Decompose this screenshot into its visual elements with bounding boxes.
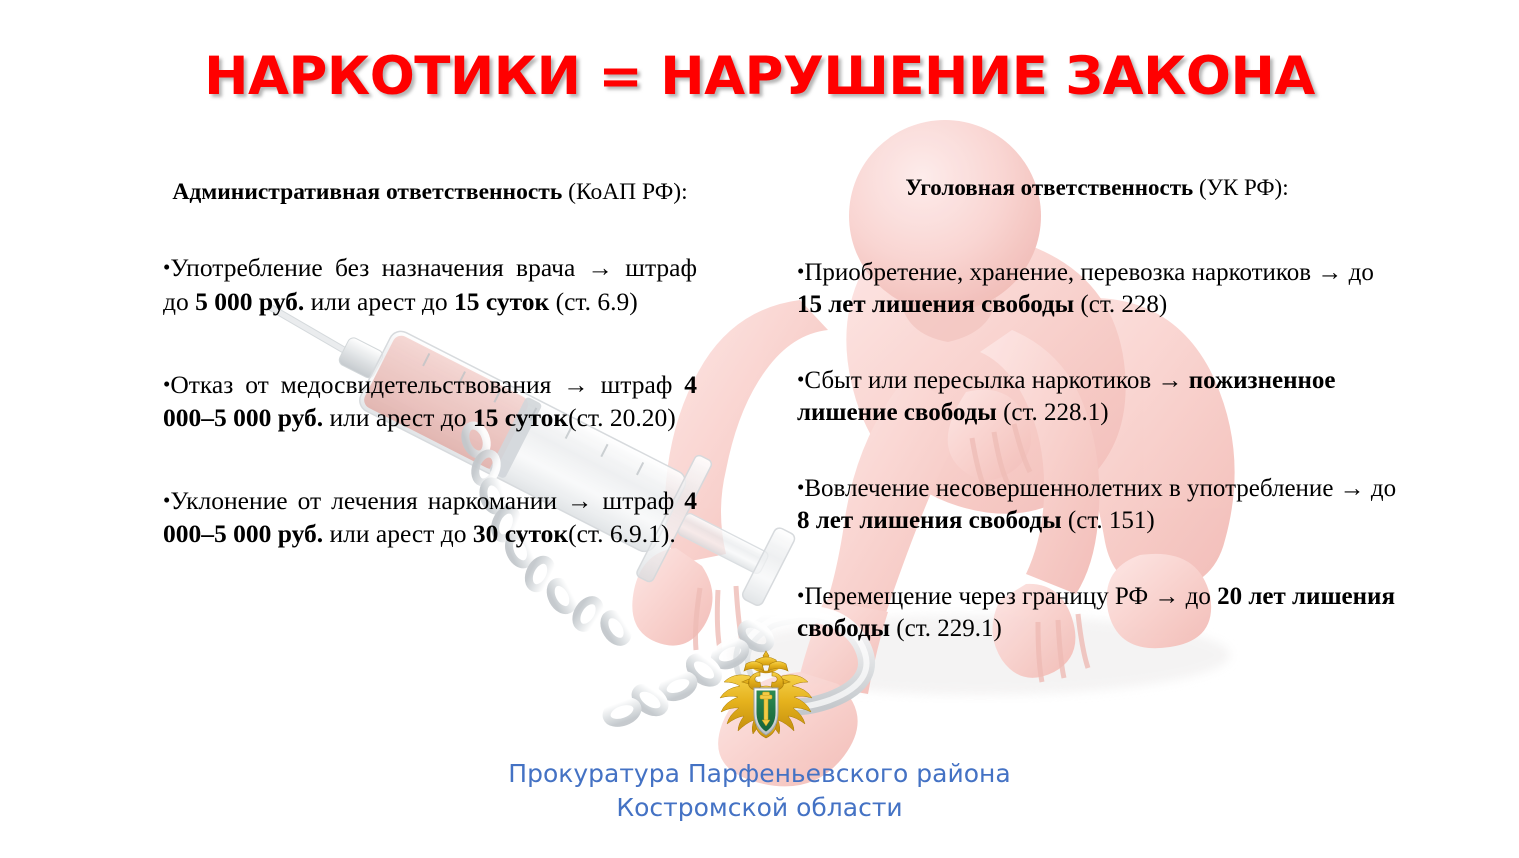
list-item: Сбыт или пересылка наркотиков → пожизнен… xyxy=(797,365,1397,430)
bullet-text-part: (ст. 228) xyxy=(1074,291,1167,318)
administrative-heading-strong: Административная ответственность xyxy=(172,179,562,205)
bullet-text-part: (ст. 20.20) xyxy=(568,403,676,432)
bullet-text-part: (ст. 6.9) xyxy=(549,287,638,316)
administrative-bullet-list: Употребление без назначения врача → штра… xyxy=(163,251,697,550)
administrative-heading: Административная ответственность (КоАП Р… xyxy=(163,176,697,209)
bullet-text-part: Сбыт или пересылка наркотиков → xyxy=(804,367,1188,394)
criminal-column: Уголовная ответственность (УК РФ): Приоб… xyxy=(797,172,1397,646)
bullet-bold-part: 15 суток xyxy=(473,403,568,432)
bullet-text-part: (ст. 6.9.1). xyxy=(568,519,676,548)
bullet-text-part: (ст. 151) xyxy=(1062,507,1155,534)
bullet-text-part: Перемещение через границу РФ → до xyxy=(804,583,1217,610)
bullet-text-part: Уклонение от лечения наркомании → штраф xyxy=(170,486,684,515)
bullet-text-part: Отказ от медосвидетельствования → штраф xyxy=(170,370,684,399)
list-item: Отказ от медосвидетельствования → штраф … xyxy=(163,368,697,434)
bullet-bold-part: 8 лет лишения свободы xyxy=(797,507,1062,534)
bullet-text-part: Приобретение, хранение, перевозка наркот… xyxy=(804,259,1373,286)
criminal-heading-strong: Уголовная ответственность xyxy=(905,175,1193,200)
administrative-column: Административная ответственность (КоАП Р… xyxy=(163,176,697,550)
list-item: Употребление без назначения врача → штра… xyxy=(163,251,697,317)
bullet-text-part: или арест до xyxy=(304,287,454,316)
footer-credit: Прокуратура Парфеньевского района Костро… xyxy=(0,757,1519,825)
bullet-text-part: (ст. 229.1) xyxy=(890,615,1002,642)
list-item: Перемещение через границу РФ → до 20 лет… xyxy=(797,581,1397,646)
criminal-bullet-list: Приобретение, хранение, перевозка наркот… xyxy=(797,257,1397,646)
bullet-bold-part: 15 лет лишения свободы xyxy=(797,291,1074,318)
criminal-heading-plain: (УК РФ): xyxy=(1193,175,1288,200)
bullet-text-part: или арест до xyxy=(323,519,473,548)
bullet-bold-part: 5 000 руб. xyxy=(195,287,304,316)
slide-title: НАРКОТИКИ = НАРУШЕНИЕ ЗАКОНА xyxy=(0,46,1519,107)
bullet-text-part: Вовлечение несовершеннолетних в употребл… xyxy=(804,475,1396,502)
administrative-heading-plain: (КоАП РФ): xyxy=(562,179,687,205)
list-item: Вовлечение несовершеннолетних в употребл… xyxy=(797,473,1397,538)
footer-line-1: Прокуратура Парфеньевского района xyxy=(0,757,1519,791)
prosecutor-office-emblem-icon xyxy=(716,648,816,752)
footer-line-2: Костромской области xyxy=(0,791,1519,825)
criminal-heading: Уголовная ответственность (УК РФ): xyxy=(797,172,1397,205)
bullet-text-part: (ст. 228.1) xyxy=(997,399,1109,426)
bullet-text-part: или арест до xyxy=(323,403,473,432)
list-item: Уклонение от лечения наркомании → штраф … xyxy=(163,484,697,550)
bullet-bold-part: 15 суток xyxy=(454,287,549,316)
slide-canvas: НАРКОТИКИ = НАРУШЕНИЕ ЗАКОНА Администрат… xyxy=(0,0,1519,858)
bullet-bold-part: 30 суток xyxy=(473,519,568,548)
list-item: Приобретение, хранение, перевозка наркот… xyxy=(797,257,1397,322)
